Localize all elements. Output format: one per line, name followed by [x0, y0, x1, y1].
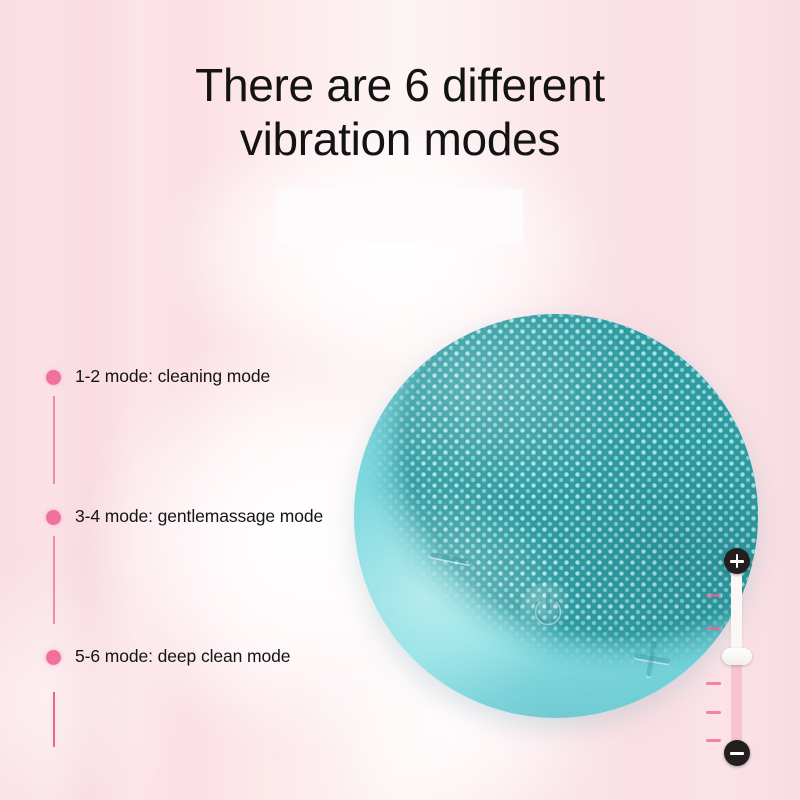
slider-tick: [706, 711, 721, 714]
mode-list: 1-2 mode: cleaning mode 3-4 mode: gentle…: [46, 356, 376, 676]
slider-tick: [706, 627, 721, 630]
bullet-dot-icon: [46, 650, 61, 665]
device-body: [354, 314, 758, 718]
list-item: 3-4 mode: gentlemassage mode: [46, 496, 376, 636]
mode-label-2: 3-4 mode: gentlemassage mode: [75, 506, 323, 527]
bullet-dot-icon: [46, 510, 61, 525]
mode-label-1: 1-2 mode: cleaning mode: [75, 366, 270, 387]
slider-increase-button[interactable]: [724, 548, 750, 574]
bullet-tail-line: [53, 692, 55, 747]
plus-icon[interactable]: [629, 636, 675, 682]
list-item: 5-6 mode: deep clean mode: [46, 636, 376, 676]
bullet-connector-line: [53, 536, 55, 624]
facial-cleansing-brush-device: [354, 314, 758, 718]
intensity-slider[interactable]: [700, 548, 772, 772]
mode-label-3: 5-6 mode: deep clean mode: [75, 646, 290, 667]
slider-tick: [706, 682, 721, 685]
bullet-dot-icon: [46, 370, 61, 385]
bullet-connector-line: [53, 396, 55, 484]
power-icon[interactable]: [520, 582, 576, 638]
page-title: There are 6 different vibration modes: [0, 58, 800, 166]
erased-watermark-patch: [277, 189, 523, 244]
slider-tick: [706, 739, 721, 742]
product-marketing-image: There are 6 different vibration modes 1-…: [0, 0, 800, 800]
slider-tick: [706, 594, 721, 597]
silicone-bristles-texture: [354, 314, 758, 718]
list-item: 1-2 mode: cleaning mode: [46, 356, 376, 496]
slider-handle[interactable]: [722, 648, 752, 665]
slider-decrease-button[interactable]: [724, 740, 750, 766]
slider-track-fill: [731, 568, 742, 660]
